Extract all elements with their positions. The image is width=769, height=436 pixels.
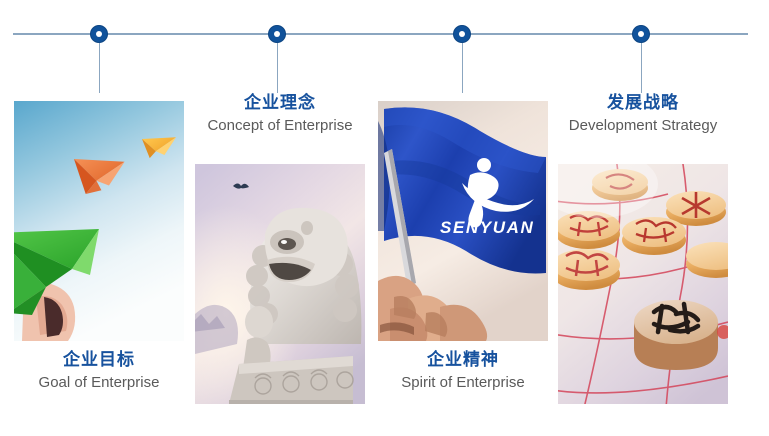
- paper-planes-photo: [14, 101, 184, 341]
- stone-lion-illustration: [195, 164, 365, 404]
- chinese-chess-photo: [558, 164, 728, 404]
- paper-planes-illustration: [14, 101, 184, 341]
- label-en-concept: Concept of Enterprise: [180, 115, 380, 137]
- label-en-strategy: Development Strategy: [543, 115, 743, 137]
- timeline-stem-3: [462, 42, 463, 93]
- corporate-culture-timeline: 企业目标 Goal of Enterprise 企业理念 Concept of …: [0, 0, 769, 436]
- label-cn-concept: 企业理念: [180, 91, 380, 115]
- label-en-goal: Goal of Enterprise: [0, 372, 199, 394]
- blue-flag-illustration: SENYUAN: [378, 101, 548, 341]
- timeline-stem-2: [277, 42, 278, 93]
- label-block-spirit: 企业精神 Spirit of Enterprise: [363, 348, 563, 394]
- timeline-node-2[interactable]: [268, 25, 286, 43]
- timeline-node-4[interactable]: [632, 25, 650, 43]
- stone-lion-photo: [195, 164, 365, 404]
- chinese-chess-illustration: [558, 164, 728, 404]
- label-cn-spirit: 企业精神: [363, 348, 563, 372]
- timeline-stem-4: [641, 42, 642, 93]
- label-block-strategy: 发展战略 Development Strategy: [543, 91, 743, 137]
- label-cn-goal: 企业目标: [0, 348, 199, 372]
- label-block-concept: 企业理念 Concept of Enterprise: [180, 91, 380, 137]
- blue-flag-photo: SENYUAN: [378, 101, 548, 341]
- timeline-node-3[interactable]: [453, 25, 471, 43]
- label-block-goal: 企业目标 Goal of Enterprise: [0, 348, 199, 394]
- label-en-spirit: Spirit of Enterprise: [363, 372, 563, 394]
- flag-brand-text: SENYUAN: [440, 218, 534, 237]
- label-cn-strategy: 发展战略: [543, 91, 743, 115]
- timeline-stem-1: [99, 42, 100, 93]
- timeline-node-1[interactable]: [90, 25, 108, 43]
